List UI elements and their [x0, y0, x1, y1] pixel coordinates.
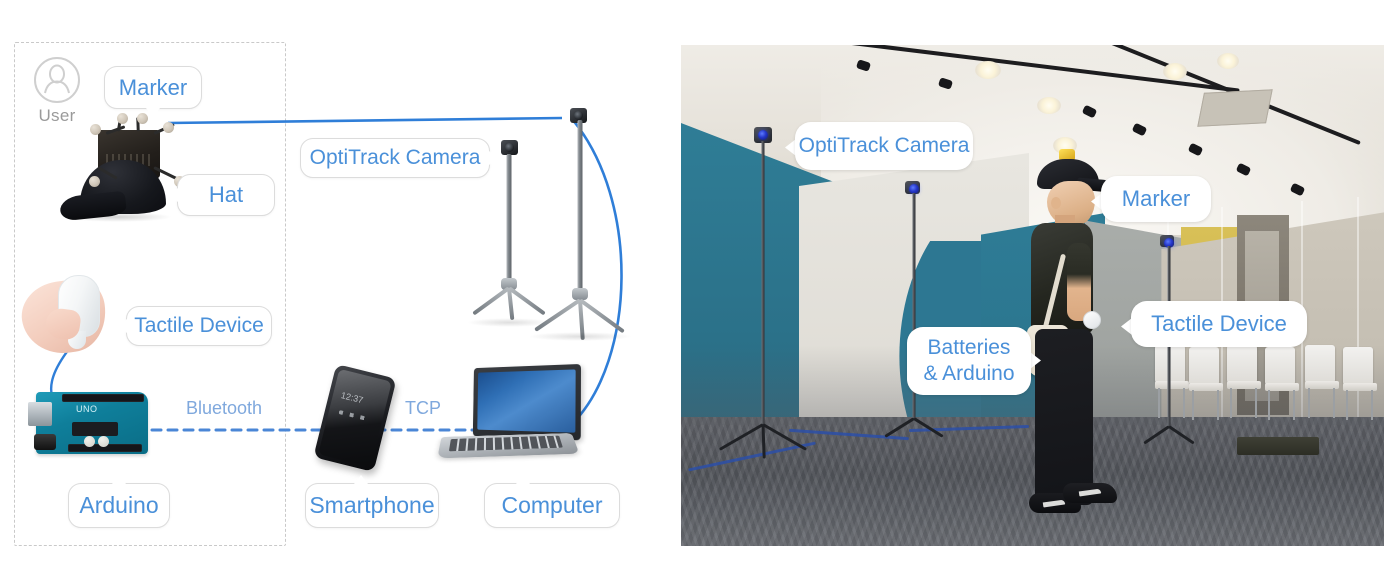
label-optitrack-camera-text: OptiTrack Camera: [310, 146, 481, 171]
cap-shadow: [64, 212, 172, 222]
hat-with-markers-illustration: [62, 108, 192, 218]
laptop-base: [437, 433, 579, 458]
participant-ear: [1051, 197, 1061, 209]
reflective-marker: [89, 176, 100, 187]
photo-optitrack-stand-middle: [899, 181, 929, 433]
photo-label-tactile-device[interactable]: Tactile Device: [1131, 301, 1307, 347]
label-smartphone-text: Smartphone: [309, 492, 434, 519]
phone-body: 12:37: [313, 364, 396, 472]
label-marker-text: Marker: [119, 75, 187, 101]
participant-legs: [1035, 329, 1093, 505]
shoe-logo: [1043, 499, 1065, 507]
tripod-leg: [534, 298, 581, 332]
label-hat-text: Hat: [209, 182, 243, 208]
label-tactile-device[interactable]: Tactile Device: [126, 306, 272, 346]
arduino-board-illustration: UNO: [28, 388, 152, 460]
tripod-leg: [579, 298, 625, 333]
optitrack-tripod-far: [532, 108, 628, 340]
reflective-marker: [137, 113, 148, 124]
figure-root: User: [0, 0, 1400, 572]
user-icon: [34, 57, 80, 103]
tripod-pole: [507, 154, 512, 282]
chair-back: [1189, 347, 1219, 385]
phone-widgets: [339, 410, 369, 421]
tcp-link-label: TCP: [405, 398, 441, 419]
reflective-marker: [163, 122, 174, 133]
chair-back: [1227, 345, 1257, 383]
arduino-capacitor: [84, 436, 95, 447]
photo-label-optitrack-camera[interactable]: OptiTrack Camera: [795, 122, 973, 170]
label-arduino[interactable]: Arduino: [68, 483, 170, 528]
experiment-photo-panel: OptiTrack Camera Marker Tactile Device B…: [681, 45, 1384, 546]
chair-legs: [1189, 390, 1223, 420]
reflective-marker: [90, 124, 101, 135]
label-hat[interactable]: Hat: [177, 174, 275, 216]
label-smartphone[interactable]: Smartphone: [305, 483, 439, 528]
tripod-shadow: [528, 332, 632, 341]
label-computer-text: Computer: [502, 492, 603, 519]
label-computer[interactable]: Computer: [484, 483, 620, 528]
ceiling-downlight: [1037, 97, 1061, 114]
ceiling-vent: [1197, 89, 1272, 127]
participant-arm: [1067, 243, 1091, 321]
laptop-screen: [477, 369, 575, 432]
participant-shoe-right: [1063, 483, 1117, 503]
tripod-pole: [578, 120, 583, 292]
photo-label-marker[interactable]: Marker: [1101, 176, 1211, 222]
stand-mast: [762, 141, 765, 425]
laptop-lid: [473, 364, 581, 440]
stand-leg: [762, 424, 766, 458]
arduino-power-jack: [34, 434, 56, 450]
photo-label-batteries-arduino[interactable]: Batteries & Arduino: [907, 327, 1031, 395]
smartphone-illustration: 12:37: [324, 370, 404, 466]
label-arduino-text: Arduino: [79, 492, 158, 519]
stacked-dark-cushions: [1237, 437, 1319, 455]
arduino-microcontroller: [72, 422, 118, 436]
ceiling-downlight: [1217, 53, 1239, 69]
schematic-diagram-panel: User: [0, 0, 670, 572]
chair-back: [1265, 347, 1295, 385]
tactile-device-illustration: [22, 275, 132, 365]
arduino-capacitor: [98, 436, 109, 447]
optitrack-camera-head: [501, 140, 518, 155]
chair-back: [1305, 345, 1335, 383]
phone-clock: 12:37: [340, 390, 364, 405]
chair-legs: [1227, 388, 1261, 418]
phone-screen: 12:37: [318, 369, 392, 467]
label-tactile-device-text: Tactile Device: [134, 314, 264, 339]
label-optitrack-camera[interactable]: OptiTrack Camera: [300, 138, 490, 178]
chair-legs: [1343, 390, 1377, 420]
chair-back: [1343, 347, 1373, 385]
label-marker[interactable]: Marker: [104, 66, 202, 109]
bluetooth-link-label: Bluetooth: [186, 398, 262, 419]
reflective-marker: [117, 113, 128, 124]
ceiling-downlight: [975, 61, 1001, 79]
photo-label-optitrack-camera-text: OptiTrack Camera: [799, 133, 970, 159]
chair-legs: [1305, 388, 1339, 418]
shoe-logo: [1079, 488, 1101, 496]
arduino-header: [62, 394, 144, 402]
photo-label-tactile-device-text: Tactile Device: [1151, 310, 1287, 338]
photo-label-marker-text: Marker: [1122, 185, 1190, 213]
laptop-illustration: [440, 366, 586, 466]
photo-optitrack-stand-left: [743, 127, 783, 443]
chair-legs: [1265, 390, 1299, 420]
arduino-usb-port: [28, 402, 52, 426]
photo-label-batteries-arduino-text: Batteries & Arduino: [923, 335, 1014, 388]
arduino-silkscreen-label: UNO: [76, 404, 116, 416]
held-tactile-device: [1083, 311, 1101, 329]
tripod-leg: [472, 286, 510, 315]
laptop-keyboard: [449, 436, 563, 452]
ceiling-downlight: [1163, 63, 1187, 80]
